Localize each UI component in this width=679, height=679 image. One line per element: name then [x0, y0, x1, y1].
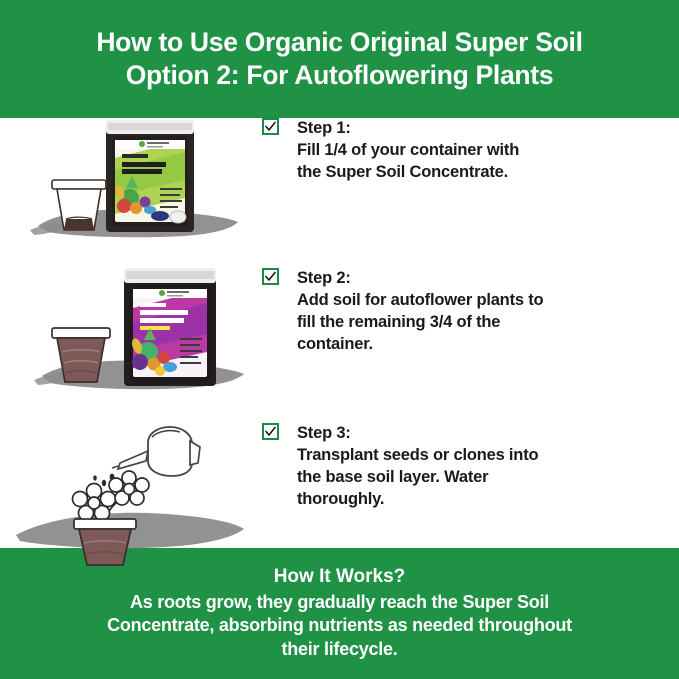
header-title-line-2: Option 2: For Autoflowering Plants: [126, 59, 554, 92]
step-2-desc-line-3: container.: [297, 334, 543, 356]
step-2-desc-line-2: fill the remaining 3/4 of the: [297, 312, 543, 334]
step-3-text: Step 3: Transplant seeds or clones into …: [297, 423, 538, 511]
footer-line-3: their lifecycle.: [281, 638, 397, 662]
checkbox-checked-icon: [262, 118, 279, 135]
step-3-title: Step 3:: [297, 423, 538, 445]
step-1-desc-line-2: the Super Soil Concentrate.: [297, 162, 519, 184]
step-row: Step 2: Add soil for autoflower plants t…: [0, 268, 679, 423]
checkbox-checked-icon: [262, 423, 279, 440]
step-3-desc-line-2: the base soil layer. Water: [297, 467, 538, 489]
step-2-illustration: [0, 268, 262, 423]
infographic-root: How to Use Organic Original Super Soil O…: [0, 0, 679, 679]
step-row: Step 3: Transplant seeds or clones into …: [0, 423, 679, 548]
pot-with-plant: [74, 519, 136, 565]
step-2-artwork: [0, 268, 262, 423]
step-3-artwork: [0, 423, 262, 573]
watering-can-icon: [112, 427, 200, 476]
step-1-illustration: [0, 118, 262, 268]
step-2-text: Step 2: Add soil for autoflower plants t…: [297, 268, 543, 356]
step-1-text-block: Step 1: Fill 1/4 of your container with …: [262, 118, 679, 184]
step-3-desc-line-3: thoroughly.: [297, 489, 538, 511]
step-3-text-block: Step 3: Transplant seeds or clones into …: [262, 423, 679, 511]
step-2-title: Step 2:: [297, 268, 543, 290]
step-row: Step 1: Fill 1/4 of your container with …: [0, 118, 679, 268]
step-1-artwork: [0, 118, 262, 268]
step-1-desc-line-1: Fill 1/4 of your container with: [297, 140, 519, 162]
step-1-text: Step 1: Fill 1/4 of your container with …: [297, 118, 519, 184]
header-banner: How to Use Organic Original Super Soil O…: [0, 0, 679, 118]
super-soil-concentrate-bag: [106, 120, 194, 232]
step-2-text-block: Step 2: Add soil for autoflower plants t…: [262, 268, 679, 356]
footer-line-2: Concentrate, absorbing nutrients as need…: [107, 614, 572, 638]
step-2-desc-line-1: Add soil for autoflower plants to: [297, 290, 543, 312]
autoflower-potting-soil-bag: [124, 268, 216, 386]
header-title-line-1: How to Use Organic Original Super Soil: [96, 26, 582, 59]
step-1-title: Step 1:: [297, 118, 519, 140]
checkbox-checked-icon: [262, 268, 279, 285]
steps-area: Step 1: Fill 1/4 of your container with …: [0, 118, 679, 548]
step-3-illustration: [0, 423, 262, 548]
footer-line-1: As roots grow, they gradually reach the …: [130, 591, 549, 615]
footer-title: How It Works?: [274, 565, 406, 590]
step-3-desc-line-1: Transplant seeds or clones into: [297, 445, 538, 467]
